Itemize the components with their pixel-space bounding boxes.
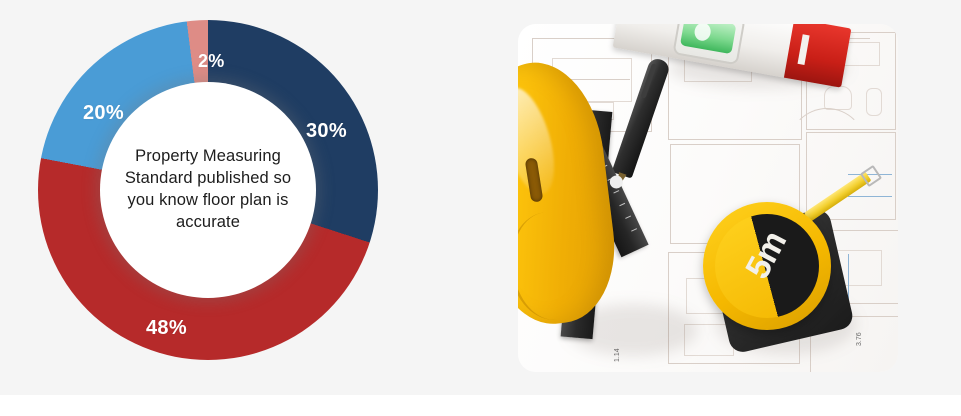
donut-center-text: Property Measuring Standard published so…	[110, 146, 306, 233]
dimension-line	[848, 196, 892, 197]
tape-measure: 5m	[703, 202, 855, 354]
slice-label-48: 48%	[146, 317, 187, 340]
yellow-hard-hat	[518, 62, 616, 352]
donut-chart: Property Measuring Standard published so…	[38, 20, 378, 360]
dimension-label-376: 3.76	[856, 332, 863, 346]
blueprint-sink	[866, 88, 882, 116]
tools-photo: 3.76 1.14	[518, 24, 898, 372]
donut-center-hole: Property Measuring Standard published so…	[100, 82, 316, 298]
level-red-end	[784, 24, 852, 88]
screenshot-root: Property Measuring Standard published so…	[0, 0, 961, 416]
slice-label-2: 2%	[198, 51, 225, 72]
slice-label-20: 20%	[83, 102, 124, 125]
blueprint-toilet	[824, 86, 852, 110]
slice-label-30: 30%	[306, 120, 347, 143]
